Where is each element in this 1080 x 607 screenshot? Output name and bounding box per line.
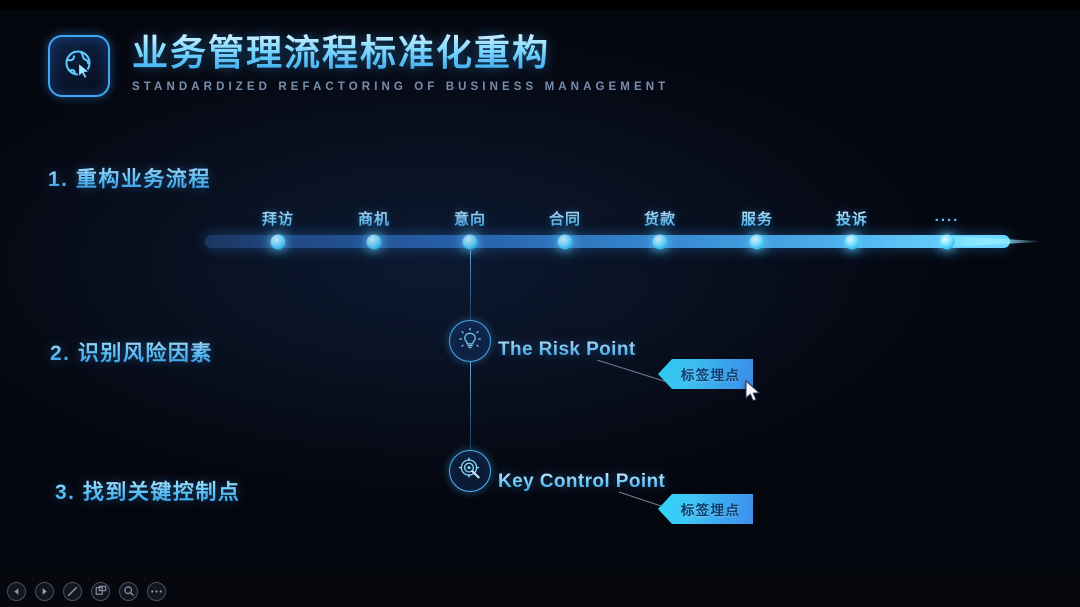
timeline-node-7[interactable]: [940, 235, 955, 250]
more-options-button[interactable]: [147, 582, 166, 601]
ellipsis-icon: [150, 589, 163, 594]
key-control-point-tag[interactable]: 标签埋点: [658, 494, 753, 524]
mouse-cursor-icon: [744, 380, 764, 404]
timeline-label-3: 合同: [549, 208, 581, 229]
presentation-slide: 业务管理流程标准化重构 STANDARDIZED REFACTORING OF …: [0, 0, 1080, 607]
key-control-point-circle[interactable]: [449, 450, 491, 492]
timeline-label-0: 拜访: [262, 208, 294, 229]
timeline-node-6[interactable]: [845, 235, 860, 250]
pen-icon: [66, 585, 79, 598]
target-magnifier-icon: [457, 456, 483, 487]
next-slide-button[interactable]: [35, 582, 54, 601]
play-right-icon: [39, 586, 50, 597]
timeline-label-4: 货款: [644, 208, 676, 229]
timeline-bar: [205, 235, 1010, 248]
connector-line-top: [470, 250, 471, 320]
timeline-node-0[interactable]: [271, 235, 286, 250]
pen-tool-button[interactable]: [63, 582, 82, 601]
timeline-node-1[interactable]: [367, 235, 382, 250]
lightbulb-icon: [457, 326, 483, 357]
timeline-node-5[interactable]: [750, 235, 765, 250]
timeline-node-3[interactable]: [558, 235, 573, 250]
slide-canvas: 业务管理流程标准化重构 STANDARDIZED REFACTORING OF …: [0, 10, 1080, 575]
presentation-toolbar: [0, 575, 1080, 607]
connector-line-bottom: [470, 362, 471, 450]
timeline-label-1: 商机: [358, 208, 390, 229]
slide-overview-button[interactable]: [91, 582, 110, 601]
letterbox-top: [0, 0, 1080, 10]
timeline-label-7: ....: [935, 208, 960, 225]
risk-point-circle[interactable]: [449, 320, 491, 362]
previous-slide-button[interactable]: [7, 582, 26, 601]
grid-pages-icon: [95, 585, 107, 597]
timeline-node-4[interactable]: [653, 235, 668, 250]
timeline-label-2: 意向: [454, 208, 486, 229]
timeline-node-2[interactable]: [463, 235, 478, 250]
risk-point-tag[interactable]: 标签埋点: [658, 359, 753, 389]
play-left-icon: [11, 586, 22, 597]
risk-point-tag-label: 标签埋点: [671, 364, 741, 384]
key-control-point-tag-label: 标签埋点: [671, 499, 741, 519]
timeline-label-5: 服务: [741, 208, 773, 229]
zoom-button[interactable]: [119, 582, 138, 601]
timeline-label-6: 投诉: [836, 208, 868, 229]
magnifier-icon: [123, 585, 135, 597]
